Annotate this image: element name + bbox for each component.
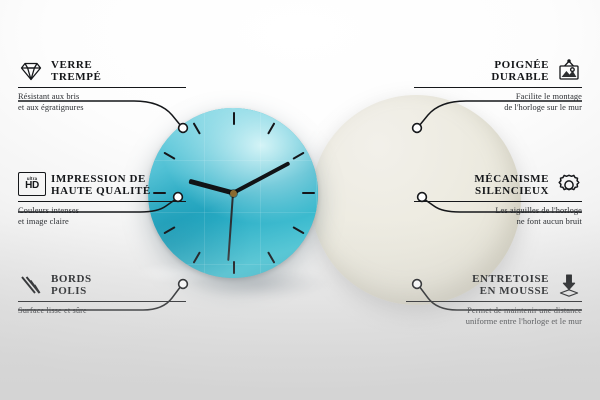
clock-tick — [233, 112, 235, 125]
callout-mecanisme-silencieux[interactable]: MÉCANISME SILENCIEUX Les aiguilles de l'… — [414, 172, 582, 227]
callout-subtitle: Résistant aux bris et aux égratignures — [18, 92, 186, 113]
callout-subtitle: Surface lisse et sûre — [18, 306, 186, 316]
callout-title: BORDS POLIS — [51, 273, 92, 298]
callout-divider — [414, 87, 582, 88]
infographic-canvas: VERRE TREMPÉ Résistant aux bris et aux é… — [0, 0, 600, 400]
callout-subtitle: Couleurs intenses et image claire — [18, 206, 186, 227]
callout-divider — [18, 201, 186, 202]
callout-impression-haute-qualite[interactable]: ultra HD IMPRESSION DE HAUTE QUALITÉ Cou… — [18, 172, 186, 227]
arrow-down-layers-icon — [556, 272, 582, 298]
callout-subtitle: Les aiguilles de l'horloge ne font aucun… — [414, 206, 582, 227]
clock-tick — [302, 192, 315, 194]
callout-title: VERRE TREMPÉ — [51, 59, 101, 84]
callout-title: IMPRESSION DE HAUTE QUALITÉ — [51, 173, 151, 198]
callout-subtitle: Permet de maintenir une distance uniform… — [406, 306, 582, 327]
callout-title: MÉCANISME SILENCIEUX — [474, 173, 549, 198]
gear-icon — [556, 172, 582, 198]
callout-verre-trempe[interactable]: VERRE TREMPÉ Résistant aux bris et aux é… — [18, 58, 186, 113]
callout-divider — [406, 301, 582, 302]
callout-header: POIGNÉE DURABLE — [414, 58, 582, 84]
hanging-picture-icon — [556, 58, 582, 84]
callout-title: POIGNÉE DURABLE — [491, 59, 549, 84]
callout-header: ENTRETOISE EN MOUSSE — [406, 272, 582, 298]
callout-title: ENTRETOISE EN MOUSSE — [472, 273, 549, 298]
callout-header: MÉCANISME SILENCIEUX — [414, 172, 582, 198]
ultra-hd-icon: ultra HD — [18, 172, 44, 198]
clock-hub — [230, 190, 237, 197]
diamond-icon — [18, 58, 44, 84]
callout-divider — [18, 301, 186, 302]
callout-bords-polis[interactable]: BORDS POLIS Surface lisse et sûre — [18, 272, 186, 317]
clock-tick — [233, 261, 235, 274]
callout-poignee-durable[interactable]: POIGNÉE DURABLE Facilite le montage de l… — [414, 58, 582, 113]
callout-header: ultra HD IMPRESSION DE HAUTE QUALITÉ — [18, 172, 186, 198]
callout-divider — [18, 87, 186, 88]
diagonal-lines-icon — [18, 272, 44, 298]
callout-entretoise-en-mousse[interactable]: ENTRETOISE EN MOUSSE Permet de maintenir… — [406, 272, 582, 327]
callout-subtitle: Facilite le montage de l'horloge sur le … — [414, 92, 582, 113]
callout-divider — [414, 201, 582, 202]
callout-header: VERRE TREMPÉ — [18, 58, 186, 84]
callout-header: BORDS POLIS — [18, 272, 186, 298]
